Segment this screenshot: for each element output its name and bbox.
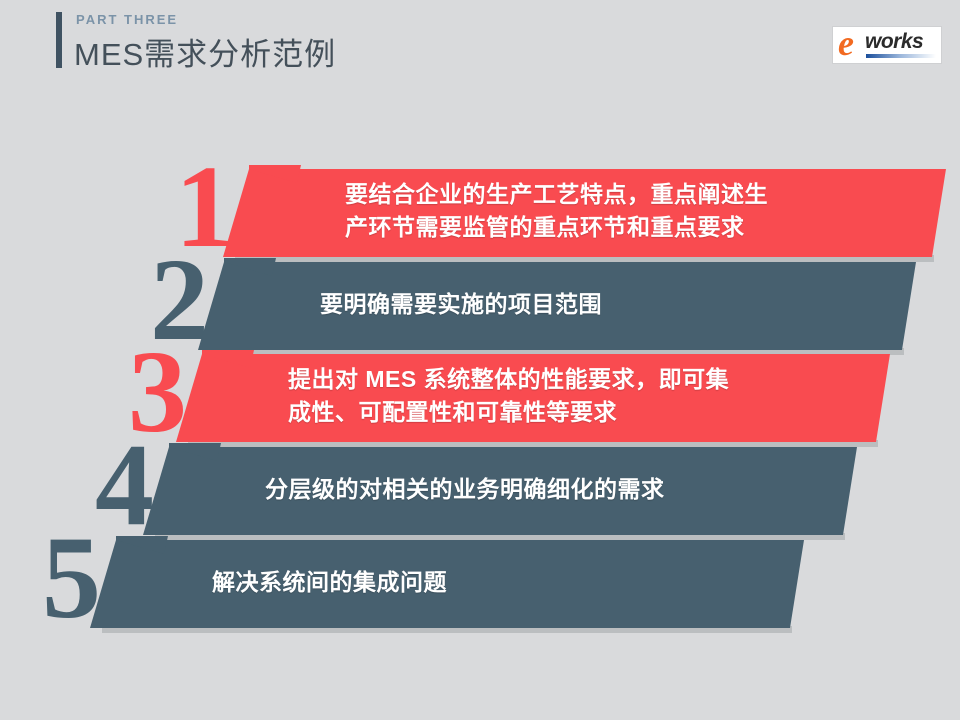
ribbon-text-line: 要明确需要实施的项目范围 [320,288,602,321]
ribbon-list: 1要结合企业的生产工艺特点，重点阐述生产环节需要监管的重点环节和重点要求2要明确… [0,0,960,720]
ribbon-body-shape [90,540,804,628]
ribbon-banner [90,536,804,628]
ribbon-text-line: 要结合企业的生产工艺特点，重点阐述生 [345,178,768,211]
ribbon-text: 分层级的对相关的业务明确细化的需求 [265,443,665,535]
ribbon-text-line: 提出对 MES 系统整体的性能要求，即可集 [288,363,729,396]
ribbon-text: 提出对 MES 系统整体的性能要求，即可集成性、可配置性和可靠性等要求 [288,350,729,442]
ribbon-text-line: 分层级的对相关的业务明确细化的需求 [265,473,665,506]
ribbon-text-line: 解决系统间的集成问题 [212,566,447,599]
ribbon-text: 解决系统间的集成问题 [212,536,447,628]
ribbon-text-line: 成性、可配置性和可靠性等要求 [288,396,729,429]
ribbon-text: 要明确需要实施的项目范围 [320,258,602,350]
ribbon-text-line: 产环节需要监管的重点环节和重点要求 [345,211,768,244]
ribbon-row[interactable]: 5解决系统间的集成问题 [42,536,824,648]
ribbon-text: 要结合企业的生产工艺特点，重点阐述生产环节需要监管的重点环节和重点要求 [345,165,768,257]
